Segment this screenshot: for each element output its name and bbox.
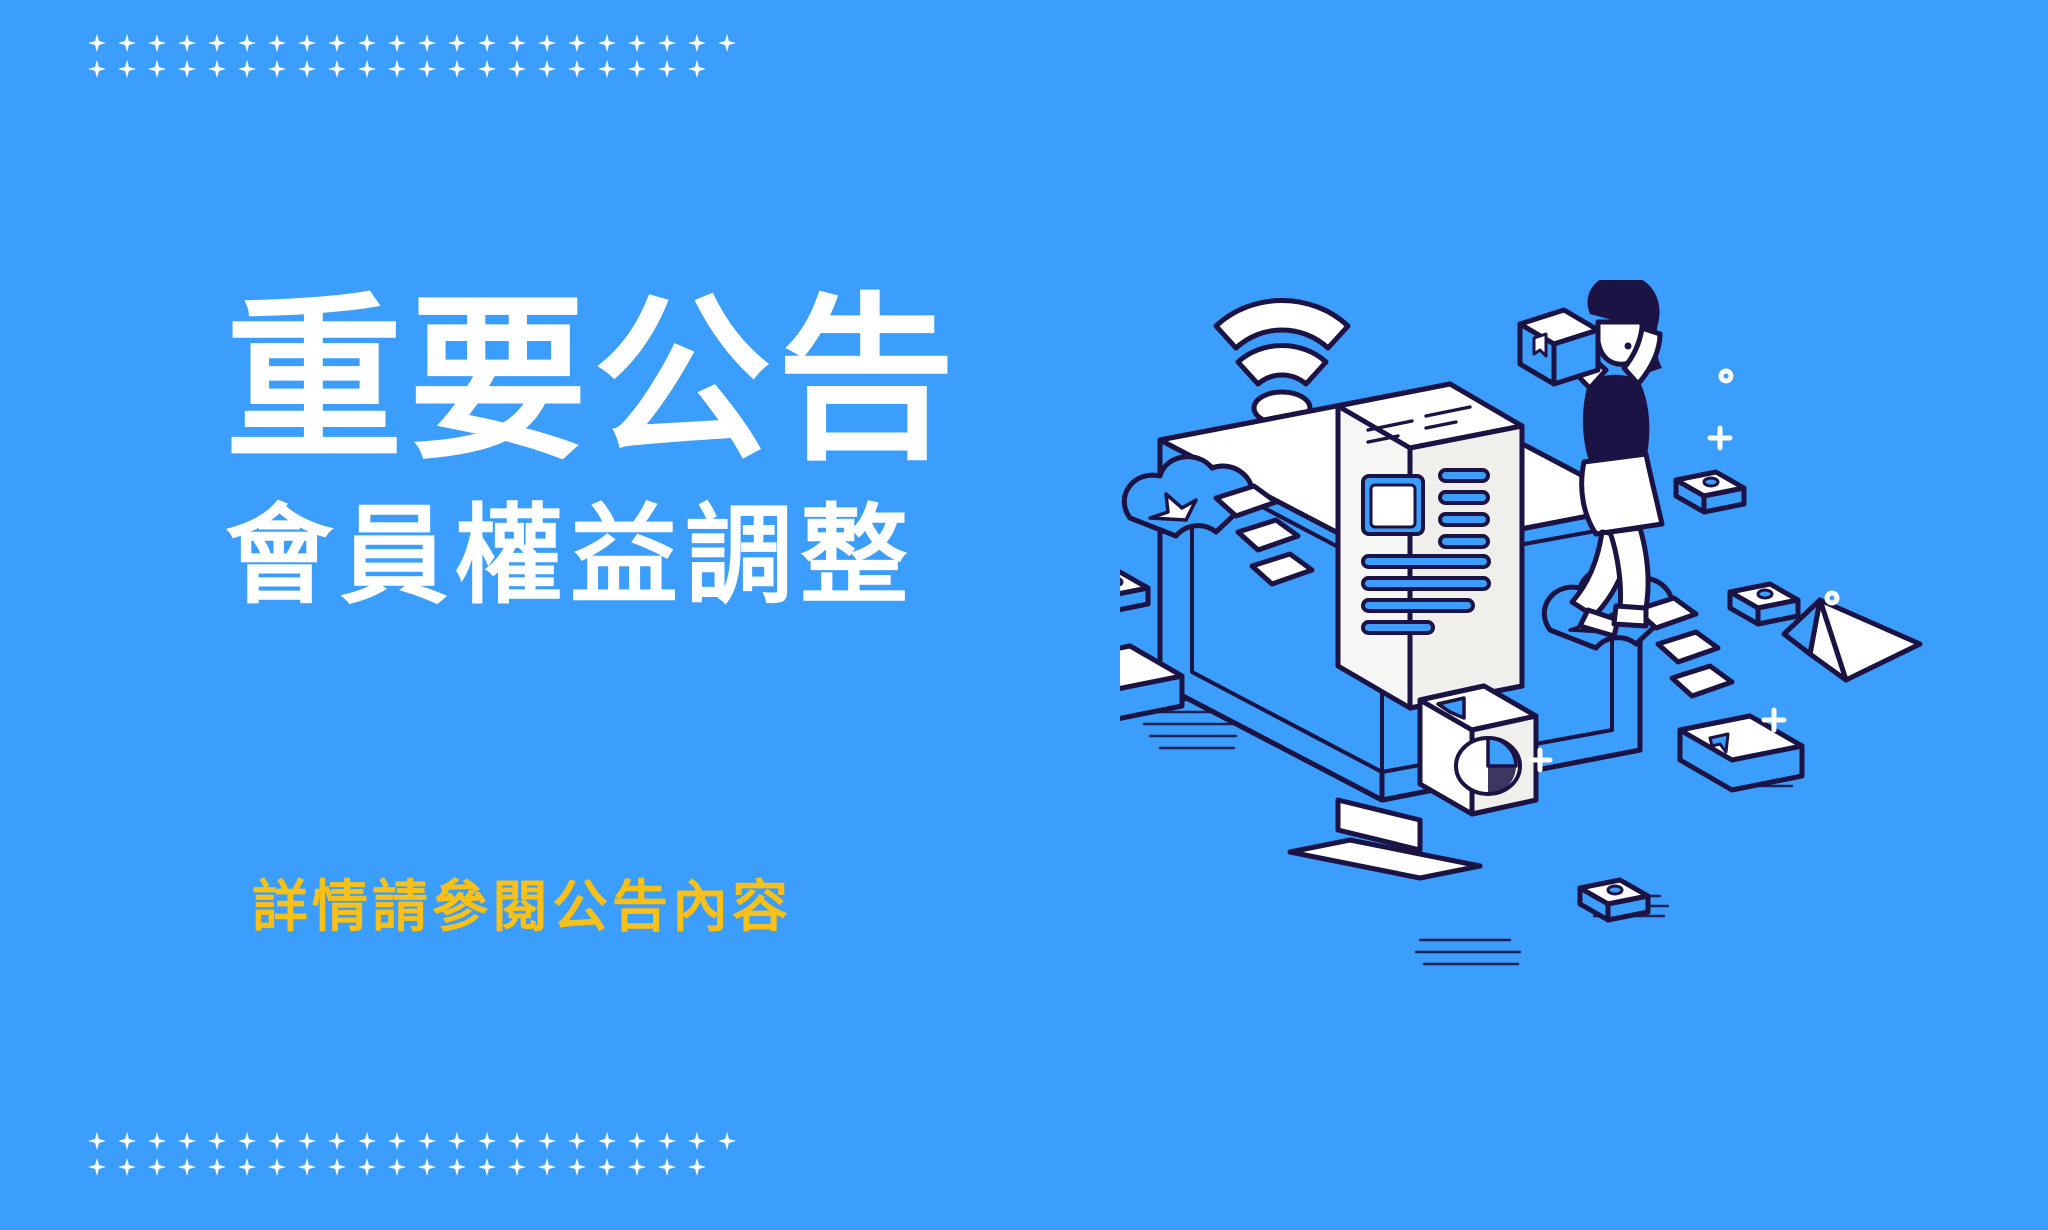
diamond-dot-icon: [448, 1158, 466, 1176]
dot-row: [88, 60, 736, 78]
diamond-dot-icon: [88, 1132, 106, 1150]
diamond-dot-icon: [688, 34, 706, 52]
diamond-dot-icon: [718, 1132, 736, 1150]
diamond-dot-icon: [448, 1132, 466, 1150]
diamond-dot-icon: [148, 34, 166, 52]
dot-row: [88, 34, 736, 52]
diamond-dot-icon: [478, 34, 496, 52]
diamond-dot-icon: [268, 1132, 286, 1150]
diamond-dot-icon: [478, 1132, 496, 1150]
diamond-dot-icon: [688, 1158, 706, 1176]
diamond-dot-icon: [178, 34, 196, 52]
diamond-dot-icon: [208, 1132, 226, 1150]
diamond-dot-icon: [388, 34, 406, 52]
diamond-dot-icon: [568, 1158, 586, 1176]
paper-plane-icon: [1784, 600, 1920, 680]
diamond-dot-icon: [538, 1158, 556, 1176]
diamond-dot-icon: [628, 34, 646, 52]
page-title-line2: 會員權益調整: [225, 488, 1045, 623]
diamond-dot-icon: [658, 1132, 676, 1150]
diamond-dot-icon: [208, 60, 226, 78]
diamond-dot-icon: [358, 1158, 376, 1176]
diamond-dot-icon: [268, 34, 286, 52]
diamond-dot-icon: [118, 1158, 136, 1176]
diamond-dot-icon: [508, 1158, 526, 1176]
diamond-dot-icon: [478, 60, 496, 78]
diamond-dot-icon: [238, 60, 256, 78]
battery-chip-c: [1730, 584, 1798, 624]
subtitle-text: 詳情請參閱公告內容: [252, 862, 792, 943]
page-title-line1: 重要公告: [225, 292, 1045, 470]
diamond-dot-icon: [88, 34, 106, 52]
diamond-dot-icon: [148, 1132, 166, 1150]
diamond-dot-icon: [688, 1132, 706, 1150]
diamond-dot-icon: [328, 34, 346, 52]
diamond-dot-icon: [568, 60, 586, 78]
diamond-dot-icon: [598, 1158, 616, 1176]
diamond-dot-icon: [358, 1132, 376, 1150]
diamond-dot-icon: [388, 1158, 406, 1176]
diamond-dot-icon: [298, 1158, 316, 1176]
diamond-dot-icon: [628, 1132, 646, 1150]
diamond-dot-icon: [358, 34, 376, 52]
document-page: [1338, 384, 1522, 708]
diamond-dot-icon: [628, 1158, 646, 1176]
pie-chart-card: [1420, 686, 1536, 814]
diamond-dot-icon: [148, 60, 166, 78]
diamond-dot-icon: [538, 34, 556, 52]
diamond-dot-icon: [658, 34, 676, 52]
diamond-dot-icon: [598, 60, 616, 78]
diamond-dot-icon: [268, 1158, 286, 1176]
battery-chip-b: [1676, 472, 1744, 512]
diamond-dot-icon: [448, 60, 466, 78]
diamond-dot-icon: [208, 34, 226, 52]
diamond-dot-icon: [598, 34, 616, 52]
diamond-dot-icon: [418, 1158, 436, 1176]
diamond-dot-icon: [88, 60, 106, 78]
diamond-dot-icon: [178, 60, 196, 78]
diamond-dot-icon: [418, 60, 436, 78]
diamond-dot-icon: [628, 60, 646, 78]
headline-block: 重要公告 會員權益調整: [225, 292, 1045, 623]
diamond-dot-icon: [418, 1132, 436, 1150]
battery-chip-d: [1580, 880, 1648, 920]
diamond-dot-icon: [328, 1132, 346, 1150]
announcement-slide: 重要公告 會員權益調整 詳情請參閱公告內容: [0, 0, 2048, 1230]
diamond-dot-icon: [178, 1132, 196, 1150]
cursor-card-right: [1680, 716, 1802, 790]
illustration-isometric-scene: [1120, 280, 2020, 980]
diamond-dot-icon: [298, 1132, 316, 1150]
dot-row: [88, 1132, 736, 1150]
diamond-dot-icon: [298, 60, 316, 78]
decor-dot-band-top: [88, 34, 736, 78]
diamond-dot-icon: [388, 60, 406, 78]
diamond-dot-icon: [658, 60, 676, 78]
diamond-dot-icon: [538, 60, 556, 78]
diamond-dot-icon: [568, 34, 586, 52]
diamond-dot-icon: [238, 1132, 256, 1150]
diamond-dot-icon: [688, 60, 706, 78]
diamond-dot-icon: [118, 1132, 136, 1150]
diamond-dot-icon: [448, 34, 466, 52]
diamond-dot-icon: [658, 1158, 676, 1176]
dot-row: [88, 1158, 736, 1176]
diamond-dot-icon: [568, 1132, 586, 1150]
diamond-dot-icon: [268, 60, 286, 78]
diamond-dot-icon: [538, 1132, 556, 1150]
diamond-dot-icon: [598, 1132, 616, 1150]
diamond-dot-icon: [118, 60, 136, 78]
diamond-dot-icon: [388, 1132, 406, 1150]
diamond-dot-icon: [358, 60, 376, 78]
diamond-dot-icon: [508, 1132, 526, 1150]
battery-chip-a: [1120, 572, 1148, 612]
diamond-dot-icon: [718, 34, 736, 52]
diamond-dot-icon: [148, 1158, 166, 1176]
diamond-dot-icon: [508, 34, 526, 52]
diamond-dot-icon: [508, 60, 526, 78]
diamond-dot-icon: [298, 34, 316, 52]
diamond-dot-icon: [478, 1158, 496, 1176]
decor-dot-band-bottom: [88, 1132, 736, 1176]
diamond-dot-icon: [238, 34, 256, 52]
diamond-dot-icon: [238, 1158, 256, 1176]
diamond-dot-icon: [178, 1158, 196, 1176]
diamond-dot-icon: [88, 1158, 106, 1176]
diamond-dot-icon: [118, 34, 136, 52]
diamond-dot-icon: [328, 1158, 346, 1176]
diamond-dot-icon: [208, 1158, 226, 1176]
diamond-dot-icon: [418, 34, 436, 52]
diamond-dot-icon: [328, 60, 346, 78]
